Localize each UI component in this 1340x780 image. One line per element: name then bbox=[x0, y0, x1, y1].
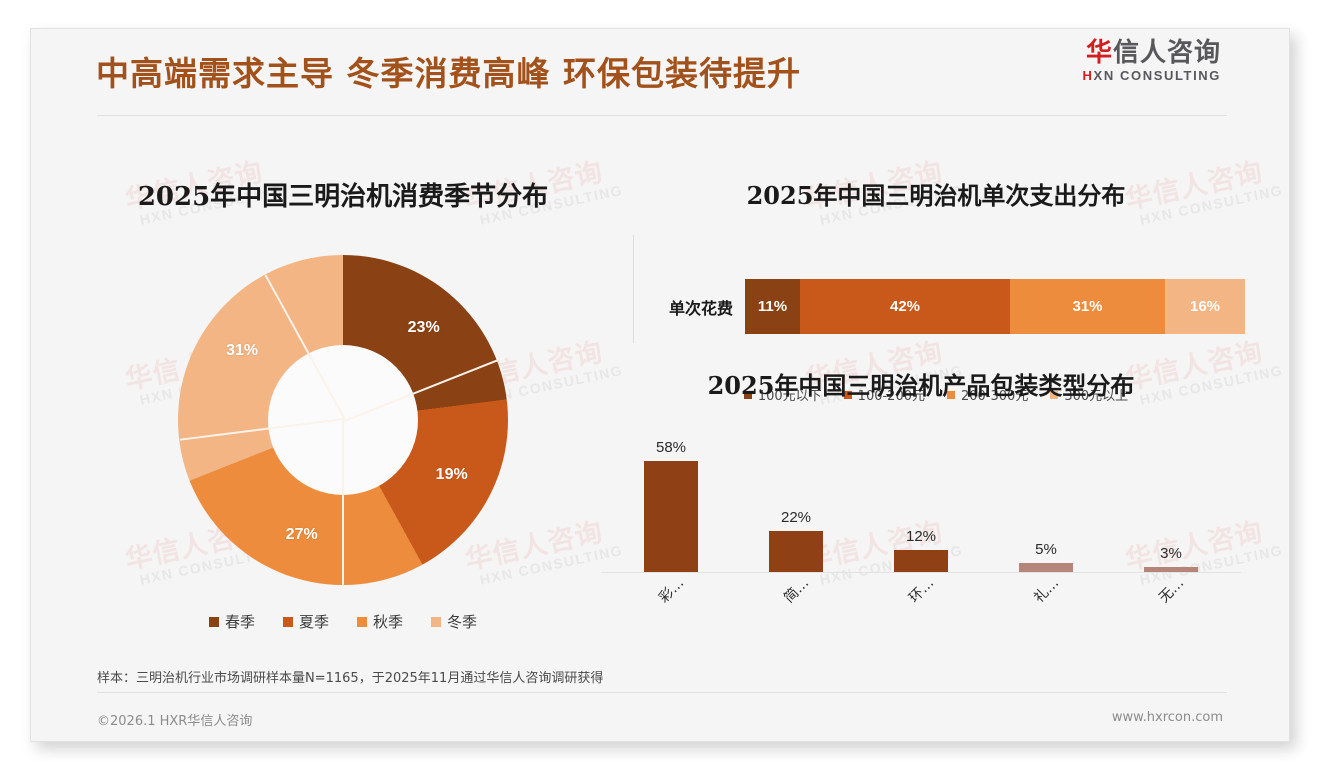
chart-panel-season: 2025年中国三明治机消费季节分布 23%19%27%31% 春季夏季秋季冬季 bbox=[73, 176, 613, 632]
company-logo: 华信人咨询 HXN CONSULTING bbox=[1083, 39, 1221, 83]
bar-rect[interactable] bbox=[769, 531, 823, 573]
legend-swatch-icon bbox=[357, 617, 367, 627]
bar-column[interactable]: 5% bbox=[990, 433, 1102, 573]
footer-copyright: ©2026.1 HXR华信人咨询 bbox=[97, 710, 252, 729]
stacked-bar-segment[interactable]: 42% bbox=[800, 279, 1010, 334]
legend-item[interactable]: 冬季 bbox=[431, 611, 477, 632]
slide-footer: ©2026.1 HXR华信人咨询 www.hxrcon.com bbox=[31, 710, 1289, 729]
bar-category-tick: 简… bbox=[740, 574, 852, 608]
bar-value-label: 5% bbox=[1035, 541, 1057, 558]
bar-column[interactable]: 3% bbox=[1115, 433, 1227, 573]
bar-category-tick: 环… bbox=[865, 574, 977, 608]
stacked-bar-segment[interactable]: 31% bbox=[1010, 279, 1165, 334]
donut-chart-season: 23%19%27%31% bbox=[178, 255, 508, 585]
bar-chart-packaging: 58%22%12%5%3% 彩…简…环…礼…无… bbox=[591, 433, 1251, 608]
bar-category-label: 无… bbox=[1154, 573, 1188, 607]
chart-panel-packaging: 2025年中国三明治机产品包装类型分布 58%22%12%5%3% 彩…简…环…… bbox=[591, 366, 1251, 608]
bar-rect[interactable] bbox=[894, 550, 948, 573]
logo-chinese-rest: 信人咨询 bbox=[1113, 38, 1221, 68]
header-divider bbox=[97, 115, 1227, 116]
page-title: 中高端需求主导 冬季消费高峰 环保包装待提升 bbox=[96, 47, 801, 95]
legend-label: 秋季 bbox=[373, 611, 403, 632]
stacked-bar-row: 单次花费 11%42%31%16% bbox=[627, 279, 1245, 334]
legend-label: 春季 bbox=[225, 611, 255, 632]
bar-category-axis: 彩…简…环…礼…无… bbox=[615, 574, 1227, 608]
bar-column[interactable]: 22% bbox=[740, 433, 852, 573]
bar-category-label: 彩… bbox=[654, 573, 688, 607]
bar-column[interactable]: 58% bbox=[615, 433, 727, 573]
stacked-bar-segment[interactable]: 11% bbox=[745, 279, 800, 334]
logo-english: HXN CONSULTING bbox=[1083, 68, 1221, 83]
donut-slice-label: 19% bbox=[436, 466, 468, 484]
bar-value-label: 12% bbox=[906, 528, 936, 545]
slide-header: 中高端需求主导 冬季消费高峰 环保包装待提升 华信人咨询 HXN CONSULT… bbox=[31, 29, 1289, 121]
legend-item[interactable]: 春季 bbox=[209, 611, 255, 632]
stacked-bar-chart-spend: 单次花费 11%42%31%16% bbox=[627, 257, 1245, 367]
bar-value-label: 58% bbox=[656, 439, 686, 456]
bar-category-label: 简… bbox=[779, 573, 813, 607]
legend-swatch-icon bbox=[283, 617, 293, 627]
bar-chart-baseline bbox=[601, 572, 1241, 573]
logo-chinese: 华信人咨询 bbox=[1083, 39, 1221, 67]
footer-website[interactable]: www.hxrcon.com bbox=[1112, 710, 1223, 729]
chart-title-season: 2025年中国三明治机消费季节分布 bbox=[73, 176, 613, 213]
sample-note-text: 样本：三明治机行业市场调研样本量N=1165，于2025年11月通过华信人咨询调… bbox=[97, 667, 1227, 692]
legend-item[interactable]: 秋季 bbox=[357, 611, 403, 632]
chart-title-spend: 2025年中国三明治机单次支出分布 bbox=[627, 176, 1245, 211]
donut-slice-label: 27% bbox=[286, 526, 318, 544]
bar-category-label: 环… bbox=[904, 573, 938, 607]
donut-slice-label: 31% bbox=[226, 342, 258, 360]
bar-category-tick: 礼… bbox=[990, 574, 1102, 608]
bar-category-tick: 无… bbox=[1115, 574, 1227, 608]
bar-value-label: 3% bbox=[1160, 545, 1182, 562]
legend-item[interactable]: 夏季 bbox=[283, 611, 329, 632]
stacked-bar-segment[interactable]: 16% bbox=[1165, 279, 1245, 334]
legend-label: 夏季 bbox=[299, 611, 329, 632]
logo-english-rest: XN CONSULTING bbox=[1094, 68, 1221, 83]
logo-chinese-red: 华 bbox=[1086, 38, 1113, 68]
bar-group: 58%22%12%5%3% bbox=[615, 433, 1227, 573]
legend-swatch-icon bbox=[431, 617, 441, 627]
bar-rect[interactable] bbox=[644, 461, 698, 573]
slide-canvas: 华信人咨询HXN CONSULTING华信人咨询HXN CONSULTING华信… bbox=[30, 28, 1290, 742]
legend-label: 冬季 bbox=[447, 611, 477, 632]
donut-separator bbox=[342, 420, 344, 585]
note-divider bbox=[97, 692, 1227, 693]
sample-note: 样本：三明治机行业市场调研样本量N=1165，于2025年11月通过华信人咨询调… bbox=[97, 667, 1227, 693]
stacked-bar-track: 11%42%31%16% bbox=[745, 279, 1245, 334]
legend-season: 春季夏季秋季冬季 bbox=[73, 611, 613, 632]
stacked-bar-category-label: 单次花费 bbox=[627, 295, 745, 319]
legend-swatch-icon bbox=[209, 617, 219, 627]
bar-category-tick: 彩… bbox=[615, 574, 727, 608]
chart-title-packaging: 2025年中国三明治机产品包装类型分布 bbox=[591, 366, 1251, 401]
donut-slice-label: 23% bbox=[408, 319, 440, 337]
logo-english-red: H bbox=[1083, 68, 1094, 83]
bar-category-label: 礼… bbox=[1029, 573, 1063, 607]
bar-value-label: 22% bbox=[781, 509, 811, 526]
bar-column[interactable]: 12% bbox=[865, 433, 977, 573]
